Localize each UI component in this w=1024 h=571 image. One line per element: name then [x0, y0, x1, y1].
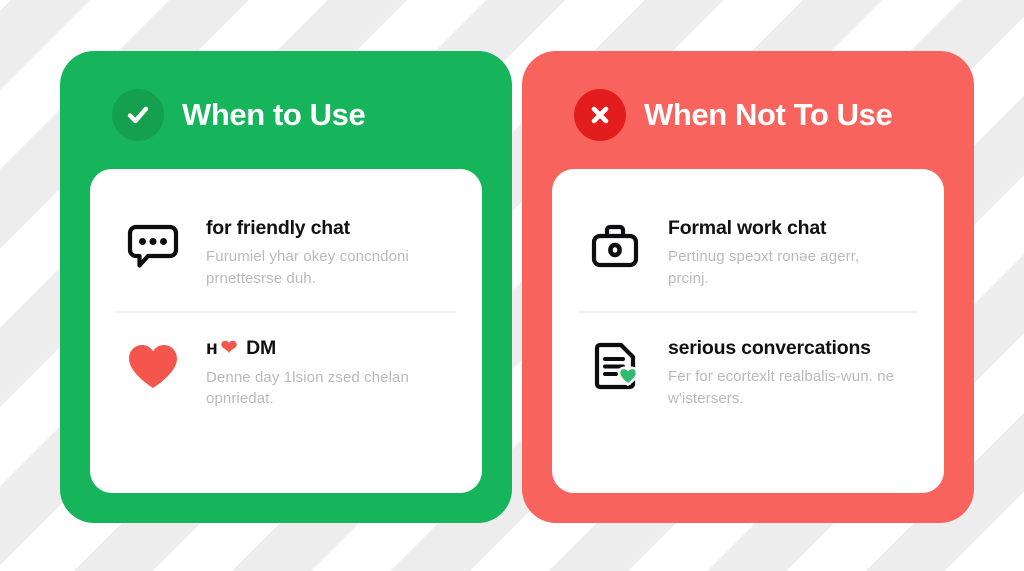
list-item-body: ʜ❤DM Denne day 1lsion zsed chelan opnrie… — [206, 335, 452, 410]
card-when-not-to-use: When Not To Use Formal work chat Pertinu… — [522, 51, 974, 523]
list-item-description: Furumiel yhar okey concndoni prnettesrse… — [206, 246, 436, 289]
card-when-to-use: When to Use for friendly chat Fu — [60, 51, 512, 523]
list-item-body: for friendly chat Furumiel yhar okey con… — [206, 215, 452, 289]
panel-when-not-to-use: Formal work chat Pertinug speɔxt ronǝe a… — [552, 169, 944, 493]
list-item-title: for friendly chat — [206, 217, 452, 239]
document-check-icon — [586, 337, 644, 395]
heart-icon — [124, 337, 182, 395]
panel-when-to-use: for friendly chat Furumiel yhar okey con… — [90, 169, 482, 493]
list-item-body: Formal work chat Pertinug speɔxt ronǝe a… — [668, 215, 914, 289]
card-header-when-to-use: When to Use — [90, 87, 482, 143]
chat-bubble-icon — [124, 217, 182, 275]
heart-emoji-icon: ❤ — [221, 337, 238, 360]
card-title: When to Use — [182, 97, 365, 133]
card-header-when-not-to-use: When Not To Use — [552, 87, 944, 143]
list-item-title-text: DM — [246, 337, 276, 359]
list-item-description: Pertinug speɔxt ronǝe agerr, prcinj. — [668, 246, 903, 289]
list-item-title: serious convercations — [668, 337, 914, 359]
list-item-description: Denne day 1lsion zsed chelan opnriedat. — [206, 367, 436, 410]
list-item-description: Fer for ecortexlt realbalis-wun. ne w'is… — [668, 366, 903, 409]
comparison-graphic: When to Use for friendly chat Fu — [0, 0, 1024, 571]
briefcase-lock-icon — [586, 217, 644, 275]
x-circle-icon — [574, 89, 626, 141]
card-title: When Not To Use — [644, 97, 892, 133]
list-item[interactable]: for friendly chat Furumiel yhar okey con… — [116, 193, 456, 311]
cards-container: When to Use for friendly chat Fu — [0, 0, 1024, 571]
list-item[interactable]: ʜ❤DM Denne day 1lsion zsed chelan opnrie… — [116, 311, 456, 432]
list-item-title-prefix: ʜ — [206, 337, 218, 359]
list-item[interactable]: serious convercations Fer for ecortexlt … — [578, 311, 918, 431]
list-item[interactable]: Formal work chat Pertinug speɔxt ronǝe a… — [578, 193, 918, 311]
list-item-title: ʜ❤DM — [206, 337, 452, 360]
list-item-body: serious convercations Fer for ecortexlt … — [668, 335, 914, 409]
check-circle-icon — [112, 89, 164, 141]
list-item-title: Formal work chat — [668, 217, 914, 239]
